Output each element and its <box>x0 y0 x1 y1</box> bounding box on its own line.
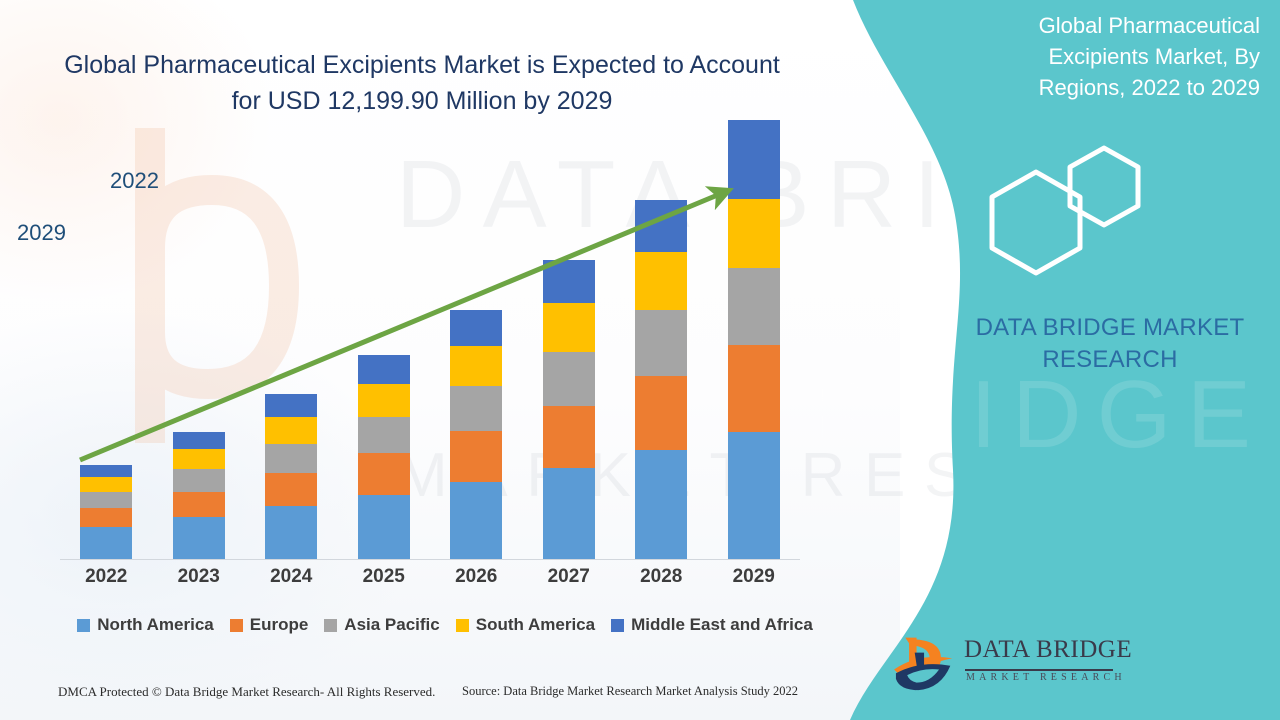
legend-swatch-icon <box>456 619 469 632</box>
bar-slot <box>615 170 708 559</box>
logo-mark-icon <box>892 632 958 692</box>
x-axis-label: 2025 <box>338 566 431 600</box>
legend-item[interactable]: Asia Pacific <box>324 615 439 635</box>
bar-segment[interactable] <box>173 469 225 491</box>
x-axis-label: 2022 <box>60 566 153 600</box>
legend-label: Europe <box>250 615 309 635</box>
bar-segment[interactable] <box>173 492 225 518</box>
bar-segment[interactable] <box>358 417 410 453</box>
legend-item[interactable]: North America <box>77 615 214 635</box>
hexagon-2029-shape <box>992 172 1080 273</box>
bar-segment[interactable] <box>728 432 780 559</box>
bar-segment[interactable] <box>543 303 595 352</box>
stacked-bar[interactable] <box>173 432 225 559</box>
infographic-page: DATA BRIDGE MARKET RESEARCH Global Pharm… <box>0 0 1280 720</box>
bar-segment[interactable] <box>80 527 132 559</box>
bar-segment[interactable] <box>635 252 687 311</box>
bar-segment[interactable] <box>635 200 687 251</box>
stacked-bar[interactable] <box>728 120 780 559</box>
bar-segment[interactable] <box>173 449 225 469</box>
x-axis-labels: 20222023202420252026202720282029 <box>60 566 800 600</box>
stacked-bar[interactable] <box>543 260 595 559</box>
chart-legend: North AmericaEuropeAsia PacificSouth Ame… <box>60 615 830 635</box>
brand-name: DATA BRIDGE MARKET RESEARCH <box>960 312 1260 377</box>
bar-slot <box>338 170 431 559</box>
bar-segment[interactable] <box>358 495 410 559</box>
legend-swatch-icon <box>324 619 337 632</box>
bar-segment[interactable] <box>265 506 317 559</box>
bar-segment[interactable] <box>265 473 317 507</box>
hexagon-year-2022: 2022 <box>110 168 159 194</box>
bar-segment[interactable] <box>728 199 780 268</box>
x-axis-label: 2023 <box>153 566 246 600</box>
logo-main-text: DATA BRIDGE <box>964 636 1132 664</box>
bar-slot <box>708 170 801 559</box>
legend-item[interactable]: South America <box>456 615 595 635</box>
bar-segment[interactable] <box>80 477 132 491</box>
bar-group <box>60 170 800 559</box>
stacked-bar[interactable] <box>80 465 132 559</box>
bar-segment[interactable] <box>728 268 780 345</box>
bar-segment[interactable] <box>543 468 595 559</box>
bar-segment[interactable] <box>358 355 410 384</box>
bar-segment[interactable] <box>80 465 132 478</box>
bar-segment[interactable] <box>543 260 595 303</box>
bar-segment[interactable] <box>543 406 595 467</box>
bar-slot <box>153 170 246 559</box>
bar-segment[interactable] <box>450 346 502 386</box>
bar-segment[interactable] <box>358 384 410 417</box>
hexagon-year-2029: 2029 <box>17 220 66 246</box>
bar-segment[interactable] <box>173 517 225 559</box>
bar-segment[interactable] <box>358 453 410 495</box>
bar-segment[interactable] <box>635 376 687 450</box>
hexagon-shapes-icon <box>980 140 1200 300</box>
bar-segment[interactable] <box>265 444 317 473</box>
legend-swatch-icon <box>230 619 243 632</box>
chart-title: Global Pharmaceutical Excipients Market … <box>60 48 784 119</box>
bar-slot <box>245 170 338 559</box>
bar-slot <box>523 170 616 559</box>
x-axis-label: 2028 <box>615 566 708 600</box>
bar-segment[interactable] <box>450 386 502 431</box>
data-bridge-logo: DATA BRIDGE MARKET RESEARCH <box>892 628 1122 700</box>
x-axis-label: 2027 <box>523 566 616 600</box>
bar-slot <box>60 170 153 559</box>
bar-segment[interactable] <box>80 508 132 527</box>
bar-segment[interactable] <box>265 417 317 443</box>
x-axis-label: 2026 <box>430 566 523 600</box>
bar-segment[interactable] <box>450 482 502 559</box>
x-axis-line <box>60 559 800 560</box>
legend-label: Asia Pacific <box>344 615 439 635</box>
bar-segment[interactable] <box>450 310 502 345</box>
bar-segment[interactable] <box>728 120 780 199</box>
bar-segment[interactable] <box>543 352 595 407</box>
stacked-bar[interactable] <box>358 355 410 559</box>
legend-swatch-icon <box>77 619 90 632</box>
bar-segment[interactable] <box>635 310 687 375</box>
x-axis-label: 2024 <box>245 566 338 600</box>
bar-slot <box>430 170 523 559</box>
footer-copyright: DMCA Protected © Data Bridge Market Rese… <box>58 684 435 700</box>
legend-label: South America <box>476 615 595 635</box>
hexagon-group <box>980 140 1200 300</box>
bar-segment[interactable] <box>173 432 225 450</box>
stacked-bar[interactable] <box>635 200 687 559</box>
bar-segment[interactable] <box>265 394 317 417</box>
footer-source: Source: Data Bridge Market Research Mark… <box>462 684 798 699</box>
bar-segment[interactable] <box>450 431 502 482</box>
bar-segment[interactable] <box>80 492 132 508</box>
legend-item[interactable]: Middle East and Africa <box>611 615 813 635</box>
bar-segment[interactable] <box>728 345 780 432</box>
bar-segment[interactable] <box>635 450 687 559</box>
panel-title: Global Pharmaceutical Excipients Market,… <box>968 10 1260 104</box>
legend-label: Middle East and Africa <box>631 615 813 635</box>
stacked-bar-chart <box>60 170 800 560</box>
x-axis-label: 2029 <box>708 566 801 600</box>
stacked-bar[interactable] <box>450 310 502 559</box>
legend-item[interactable]: Europe <box>230 615 309 635</box>
stacked-bar[interactable] <box>265 394 317 559</box>
logo-divider <box>965 669 1113 671</box>
legend-swatch-icon <box>611 619 624 632</box>
logo-sub-text: MARKET RESEARCH <box>966 672 1126 683</box>
legend-label: North America <box>97 615 214 635</box>
